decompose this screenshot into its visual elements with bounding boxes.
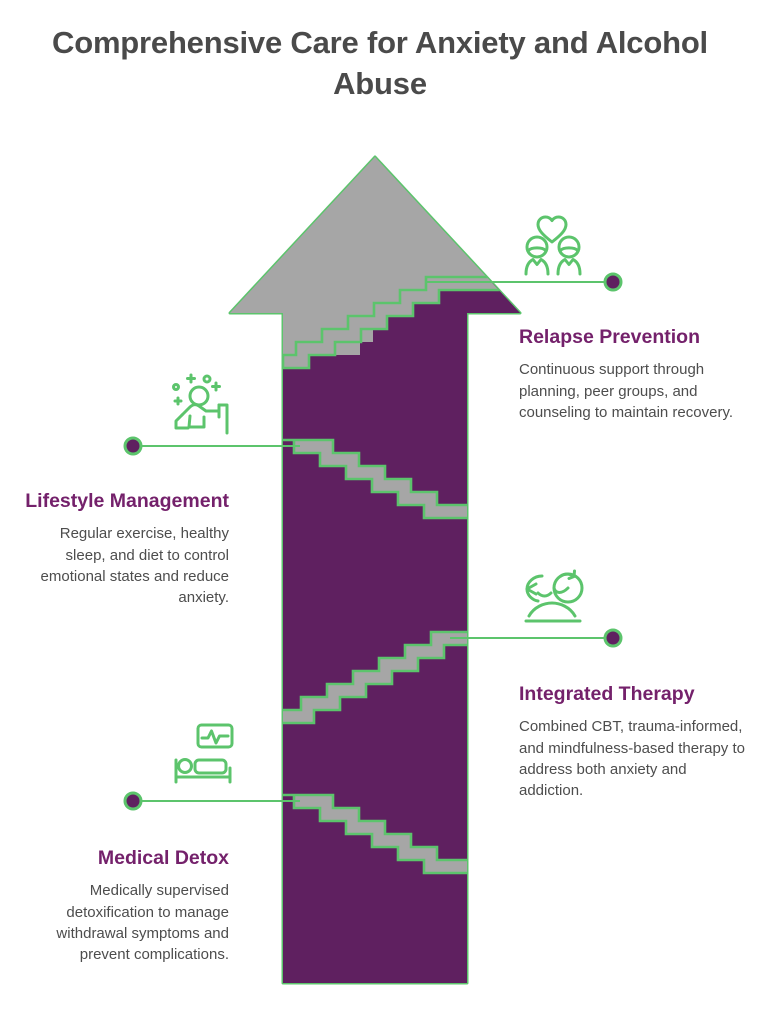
connector-therapy xyxy=(450,630,621,646)
arrow-progress-fill xyxy=(225,150,545,1003)
connector-dot-therapy xyxy=(605,630,621,646)
section-integrated-therapy: Integrated Therapy Combined CBT, trauma-… xyxy=(519,682,751,802)
connector-dot-lifestyle xyxy=(125,438,141,454)
section-relapse-prevention: Relapse Prevention Continuous support th… xyxy=(519,325,743,423)
connector-dot-relapse xyxy=(605,274,621,290)
section-body-therapy: Combined CBT, trauma-informed, and mindf… xyxy=(519,716,751,801)
two-people-heart-icon xyxy=(512,206,592,283)
head-profile-refresh-icon xyxy=(516,562,590,631)
connector-dot-detox xyxy=(125,793,141,809)
section-heading-lifestyle: Lifestyle Management xyxy=(24,489,229,514)
section-heading-relapse: Relapse Prevention xyxy=(519,325,743,350)
section-heading-detox: Medical Detox xyxy=(24,846,229,871)
section-body-lifestyle: Regular exercise, healthy sleep, and die… xyxy=(24,523,229,608)
section-body-detox: Medically supervised detoxification to m… xyxy=(24,880,229,965)
section-heading-therapy: Integrated Therapy xyxy=(519,682,751,707)
section-body-relapse: Continuous support through planning, pee… xyxy=(519,359,743,423)
section-lifestyle-management: Lifestyle Management Regular exercise, h… xyxy=(24,489,229,609)
section-medical-detox: Medical Detox Medically supervised detox… xyxy=(24,846,229,966)
person-stretching-sparkles-icon xyxy=(161,371,239,442)
hospital-bed-monitor-icon xyxy=(168,722,242,797)
